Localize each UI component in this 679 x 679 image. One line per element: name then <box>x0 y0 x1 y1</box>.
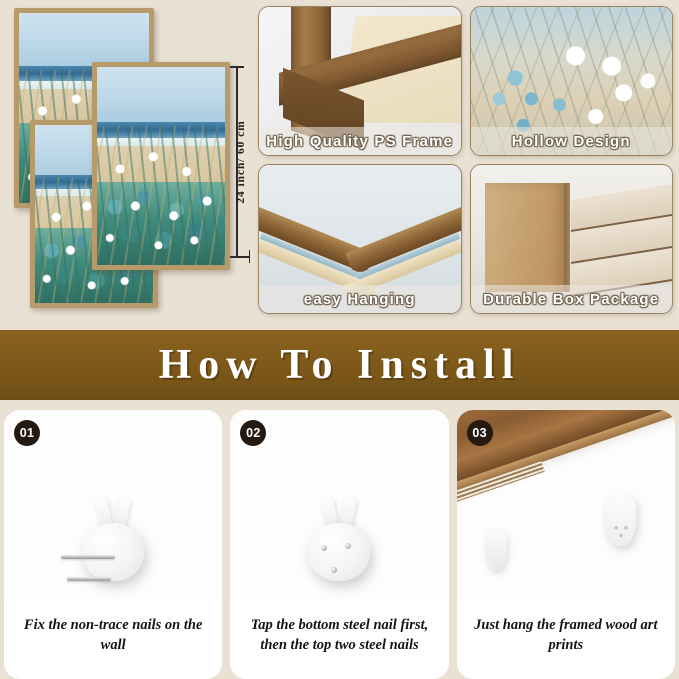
wood-frame-rail <box>457 410 675 484</box>
nail-holes <box>613 525 629 539</box>
artwork-canvas <box>97 67 225 265</box>
steel-nail-upper <box>61 555 115 559</box>
wall-hook-secondary-icon <box>487 530 507 570</box>
sky-band <box>97 67 225 126</box>
feature-caption: easy Hanging <box>259 285 461 313</box>
feature-caption: Hollow Design <box>471 127 673 155</box>
step-number-badge: 03 <box>467 420 493 446</box>
feature-panel-frame-quality: High Quality PS Frame <box>258 6 462 156</box>
feature-caption: High Quality PS Frame <box>259 127 461 155</box>
feature-panel-hollow-design: Hollow Design <box>470 6 674 156</box>
install-step-01: 01 Fix the non-trace nails on the wall <box>4 410 222 679</box>
coastal-meadow-scene <box>97 67 225 265</box>
install-step-02: 02 Tap the bottom steel nail first, then… <box>230 410 448 679</box>
steel-nail-lower <box>67 577 111 581</box>
product-infographic: 24 inch/ 60 cm 16 inch/ 40 cm High Quali… <box>0 0 679 679</box>
nail-hole-bottom <box>331 567 337 573</box>
wall-hook-icon <box>606 494 636 546</box>
hook-body <box>82 523 144 581</box>
framed-art-print-front <box>92 62 230 270</box>
daisy-blooms <box>97 142 225 265</box>
nail-hole-top-left <box>321 545 327 551</box>
step-number-badge: 01 <box>14 420 40 446</box>
banner-title: How To Install <box>159 341 521 389</box>
height-dimension-label: 24 inch/ 60 cm <box>235 87 247 237</box>
how-to-install-banner: How To Install <box>0 330 679 400</box>
top-section: 24 inch/ 60 cm 16 inch/ 40 cm High Quali… <box>0 0 679 320</box>
hook-body <box>308 523 370 581</box>
feature-caption: Durable Box Package <box>471 285 673 313</box>
feature-panel-grid: High Quality PS Frame Hollow Design <box>258 6 673 314</box>
step-caption: Tap the bottom steel nail first, then th… <box>238 615 440 655</box>
step-caption: Just hang the framed wood art prints <box>465 615 667 655</box>
box-front <box>485 183 566 293</box>
install-steps: 01 Fix the non-trace nails on the wall 0… <box>0 410 679 679</box>
feature-panel-box-package: Durable Box Package <box>470 164 674 314</box>
step-caption: Fix the non-trace nails on the wall <box>12 615 214 655</box>
nail-hole-top-right <box>345 543 351 549</box>
install-step-03: 03 Just hang the framed wood art prints <box>457 410 675 679</box>
feature-panel-easy-hanging: easy Hanging <box>258 164 462 314</box>
